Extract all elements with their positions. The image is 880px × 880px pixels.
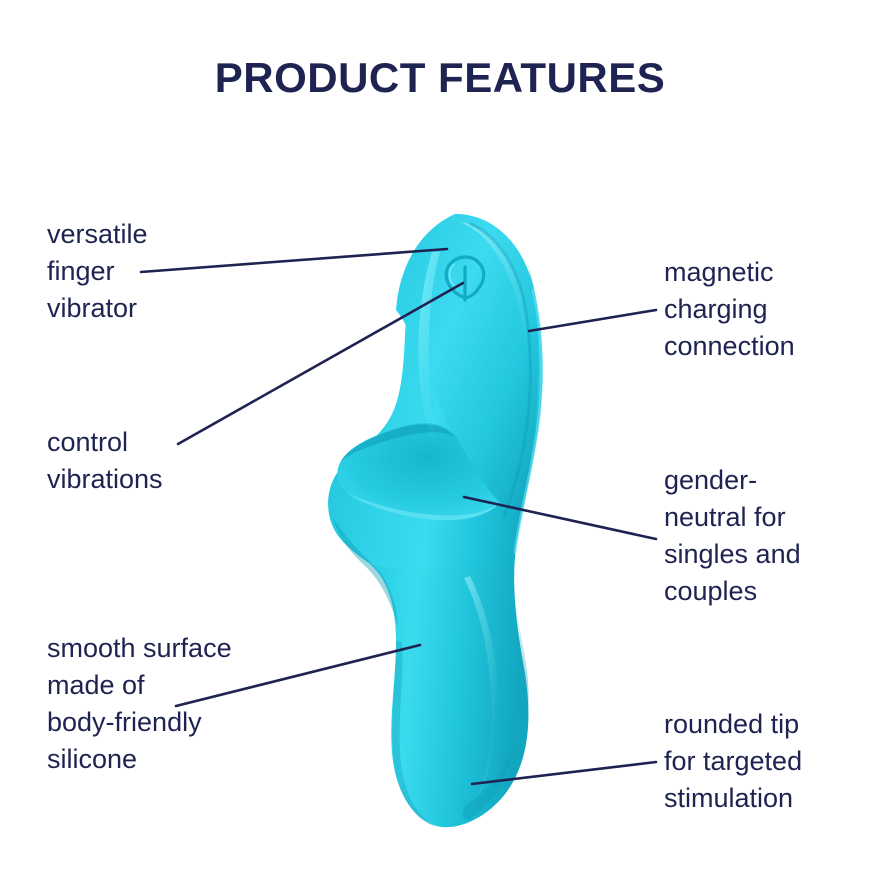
callout-control-vibrations: control vibrations xyxy=(47,424,277,498)
callout-rounded-tip: rounded tip for targeted stimulation xyxy=(664,706,880,817)
callout-versatile-finger-vibrator: versatile finger vibrator xyxy=(47,216,257,327)
leader-line-magnetic-charging xyxy=(529,310,656,331)
callout-gender-neutral: gender- neutral for singles and couples xyxy=(664,462,880,610)
product-body xyxy=(328,214,542,827)
product-features-infographic: PRODUCT FEATURES xyxy=(0,0,880,880)
callout-magnetic-charging: magnetic charging connection xyxy=(664,254,880,365)
callout-smooth-surface: smooth surface made of body-friendly sil… xyxy=(47,630,327,778)
